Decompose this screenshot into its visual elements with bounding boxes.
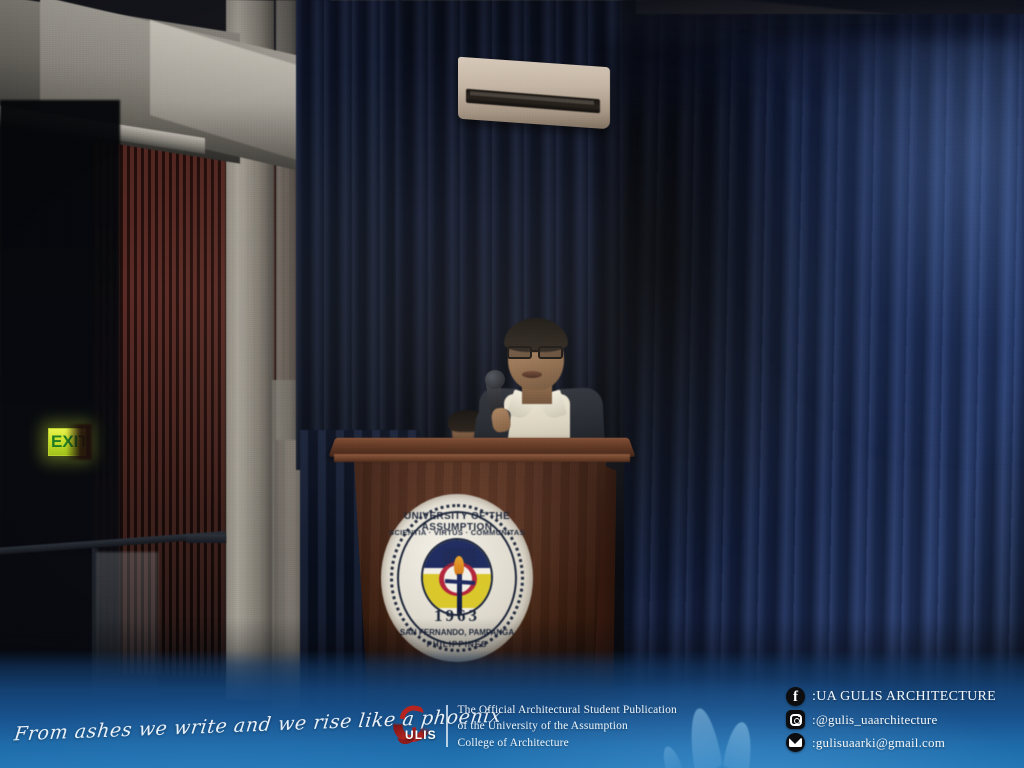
publication-line-2: of the University of the Assumption — [458, 719, 677, 733]
exit-sign-occluder — [66, 424, 92, 460]
email-address: :gulisuaarki@gmail.com — [812, 735, 945, 751]
glasses-lens-left — [507, 346, 532, 359]
publication-divider — [446, 705, 448, 747]
gulis-logo-icon: ULIS — [392, 704, 436, 748]
footer-banner: From ashes we write and we rise like a p… — [0, 650, 1024, 768]
social-facebook[interactable]: f :UA GULIS ARCHITECTURE — [786, 687, 996, 706]
seal-motto: SCIENTIA · VIRTUS · COMMUNITAS — [381, 528, 533, 537]
glasses-lens-right — [538, 346, 563, 359]
seal-emblem-flame — [454, 556, 464, 576]
publication-line-3: College of Architecture — [458, 736, 677, 750]
stage-curtain-left — [296, 0, 402, 470]
publication-description: The Official Architectural Student Publi… — [458, 703, 677, 750]
instagram-handle: :@gulis_uaarchitecture — [812, 712, 937, 728]
email-icon — [786, 733, 805, 752]
gulis-wordmark: ULIS — [405, 728, 437, 742]
speaker-glasses — [506, 346, 566, 359]
podium-top-edge — [334, 454, 630, 462]
publication-block: ULIS The Official Architectural Student … — [392, 703, 677, 750]
instagram-icon — [786, 710, 805, 729]
publication-line-1: The Official Architectural Student Publi… — [458, 703, 677, 717]
social-email[interactable]: :gulisuaarki@gmail.com — [786, 733, 996, 752]
social-links: f :UA GULIS ARCHITECTURE :@gulis_uaarchi… — [786, 687, 996, 752]
facebook-icon: f — [786, 687, 805, 706]
facebook-handle: :UA GULIS ARCHITECTURE — [812, 689, 996, 705]
screenshot-root: EXIT — [0, 0, 1024, 768]
seal-emblem — [421, 538, 493, 616]
social-instagram[interactable]: :@gulis_uaarchitecture — [786, 710, 996, 729]
speaker-mouth — [522, 371, 542, 378]
stair-railing-cap — [186, 534, 226, 543]
